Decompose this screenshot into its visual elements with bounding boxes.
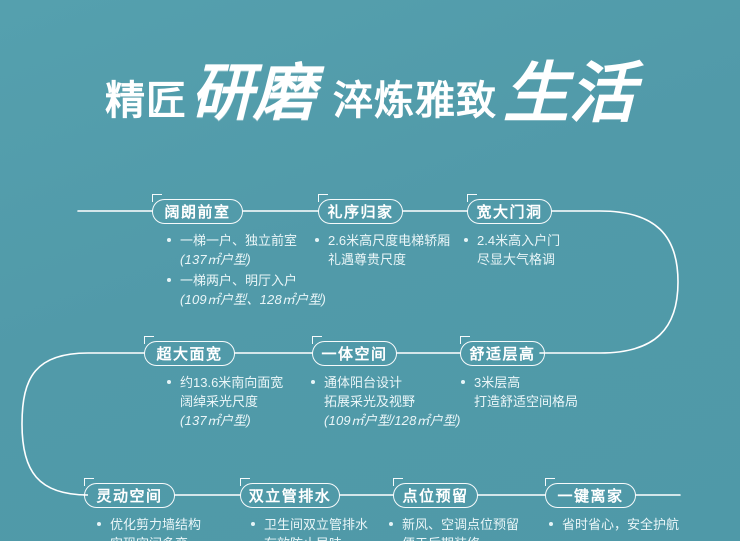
- bullet-line: (137㎡户型): [180, 411, 283, 430]
- line-left-uturn: [22, 353, 144, 495]
- pill-label: 舒适层高: [470, 343, 536, 364]
- bullet-dot-icon: [461, 380, 465, 384]
- corner-tick-icon: [312, 336, 322, 344]
- pill-label: 点位预留: [403, 485, 469, 506]
- corner-tick-icon: [144, 336, 154, 344]
- bullet-line: 拓展采光及视野: [324, 392, 461, 411]
- card-body-8: 卫生间双立管排水 有效防止异味: [250, 515, 368, 541]
- card-body-5: 通体阳台设计 拓展采光及视野 (109㎡户型/128㎡户型): [310, 373, 461, 432]
- bullet-item: 一梯一户、独立前室 (137㎡户型): [166, 231, 326, 269]
- bullet-dot-icon: [464, 238, 468, 242]
- bullet-line: 新风、空调点位预留: [402, 515, 519, 534]
- pill-label: 一体空间: [322, 343, 388, 364]
- title-part-1: 精匠: [105, 68, 187, 126]
- bullet-line: (137㎡户型): [180, 250, 326, 269]
- bullet-line: 打造舒适空间格局: [474, 392, 578, 411]
- pill-label: 宽大门洞: [477, 201, 543, 222]
- bullet-item: 2.6米高尺度电梯轿厢 礼遇尊贵尺度: [314, 231, 450, 269]
- card-title-pill-6[interactable]: 舒适层高: [460, 341, 545, 366]
- card-title-pill-7[interactable]: 灵动空间: [84, 483, 175, 508]
- bullet-item: 3米层高 打造舒适空间格局: [460, 373, 578, 411]
- corner-tick-icon: [84, 478, 94, 486]
- card-title-pill-1[interactable]: 阔朗前室: [152, 199, 243, 224]
- card-body-10: 省时省心，安全护航: [548, 515, 679, 536]
- corner-tick-icon: [545, 478, 555, 486]
- bullet-line: 一梯两户、明厅入户: [180, 271, 326, 290]
- bullet-item: 一梯两户、明厅入户 (109㎡户型、128㎡户型): [166, 271, 326, 309]
- title-part-2: 研磨: [191, 42, 315, 132]
- bullet-line: 省时省心，安全护航: [562, 515, 679, 534]
- bullet-dot-icon: [167, 238, 171, 242]
- line-right-uturn: [540, 211, 678, 353]
- title-part-4: 生活: [503, 40, 635, 136]
- corner-tick-icon: [393, 478, 403, 486]
- bullet-item: 卫生间双立管排水 有效防止异味: [250, 515, 368, 541]
- card-body-3: 2.4米高入户门 尽显大气格调: [463, 231, 560, 271]
- bullet-line: 优化剪力墙结构: [110, 515, 201, 534]
- bullet-dot-icon: [97, 522, 101, 526]
- bullet-line: 3米层高: [474, 373, 578, 392]
- bullet-line: 礼遇尊贵尺度: [328, 250, 450, 269]
- corner-tick-icon: [460, 336, 470, 344]
- card-title-pill-2[interactable]: 礼序归家: [318, 199, 403, 224]
- bullet-line: 阔绰采光尺度: [180, 392, 283, 411]
- card-title-pill-3[interactable]: 宽大门洞: [467, 199, 552, 224]
- bullet-line: (109㎡户型、128㎡户型): [180, 290, 326, 309]
- corner-tick-icon: [318, 194, 328, 202]
- corner-tick-icon: [467, 194, 477, 202]
- bullet-item: 约13.6米南向面宽 阔绰采光尺度 (137㎡户型): [166, 373, 283, 430]
- bullet-dot-icon: [311, 380, 315, 384]
- pill-label: 灵动空间: [96, 485, 162, 506]
- bullet-dot-icon: [315, 238, 319, 242]
- card-title-pill-4[interactable]: 超大面宽: [144, 341, 235, 366]
- bullet-dot-icon: [167, 380, 171, 384]
- infographic-poster: 精匠研磨淬炼雅致生活 阔朗前室: [0, 0, 740, 541]
- bullet-item: 优化剪力墙结构 实现空间多变: [96, 515, 201, 541]
- card-body-1: 一梯一户、独立前室 (137㎡户型) 一梯两户、明厅入户 (109㎡户型、128…: [166, 231, 326, 311]
- bullet-line: 便于后期装修: [402, 534, 519, 541]
- bullet-item: 2.4米高入户门 尽显大气格调: [463, 231, 560, 269]
- bullet-line: 尽显大气格调: [477, 250, 560, 269]
- bullet-line: 通体阳台设计: [324, 373, 461, 392]
- card-body-2: 2.6米高尺度电梯轿厢 礼遇尊贵尺度: [314, 231, 450, 271]
- pill-label: 礼序归家: [328, 201, 394, 222]
- bullet-line: 2.4米高入户门: [477, 231, 560, 250]
- card-body-7: 优化剪力墙结构 实现空间多变: [96, 515, 201, 541]
- card-title-pill-8[interactable]: 双立管排水: [240, 483, 340, 508]
- bullet-item: 省时省心，安全护航: [548, 515, 679, 534]
- pill-label: 一键离家: [557, 485, 623, 506]
- bullet-dot-icon: [389, 522, 393, 526]
- card-body-9: 新风、空调点位预留 便于后期装修: [388, 515, 519, 541]
- bullet-line: 一梯一户、独立前室: [180, 231, 326, 250]
- bullet-dot-icon: [167, 278, 171, 282]
- bullet-dot-icon: [549, 522, 553, 526]
- corner-tick-icon: [152, 194, 162, 202]
- bullet-line: 有效防止异味: [264, 534, 368, 541]
- card-title-pill-5[interactable]: 一体空间: [312, 341, 397, 366]
- card-title-pill-10[interactable]: 一键离家: [545, 483, 636, 508]
- bullet-line: 卫生间双立管排水: [264, 515, 368, 534]
- bullet-dot-icon: [251, 522, 255, 526]
- bullet-line: 2.6米高尺度电梯轿厢: [328, 231, 450, 250]
- bullet-item: 通体阳台设计 拓展采光及视野 (109㎡户型/128㎡户型): [310, 373, 461, 430]
- page-title: 精匠研磨淬炼雅致生活: [0, 34, 740, 134]
- bullet-line: 实现空间多变: [110, 534, 201, 541]
- title-part-3: 淬炼雅致: [333, 68, 497, 126]
- bullet-line: (109㎡户型/128㎡户型): [324, 411, 461, 430]
- card-title-pill-9[interactable]: 点位预留: [393, 483, 478, 508]
- card-body-6: 3米层高 打造舒适空间格局: [460, 373, 578, 413]
- pill-label: 阔朗前室: [164, 201, 230, 222]
- card-body-4: 约13.6米南向面宽 阔绰采光尺度 (137㎡户型): [166, 373, 283, 432]
- bullet-line: 约13.6米南向面宽: [180, 373, 283, 392]
- pill-label: 双立管排水: [249, 485, 332, 506]
- bullet-item: 新风、空调点位预留 便于后期装修: [388, 515, 519, 541]
- corner-tick-icon: [240, 478, 250, 486]
- pill-label: 超大面宽: [156, 343, 222, 364]
